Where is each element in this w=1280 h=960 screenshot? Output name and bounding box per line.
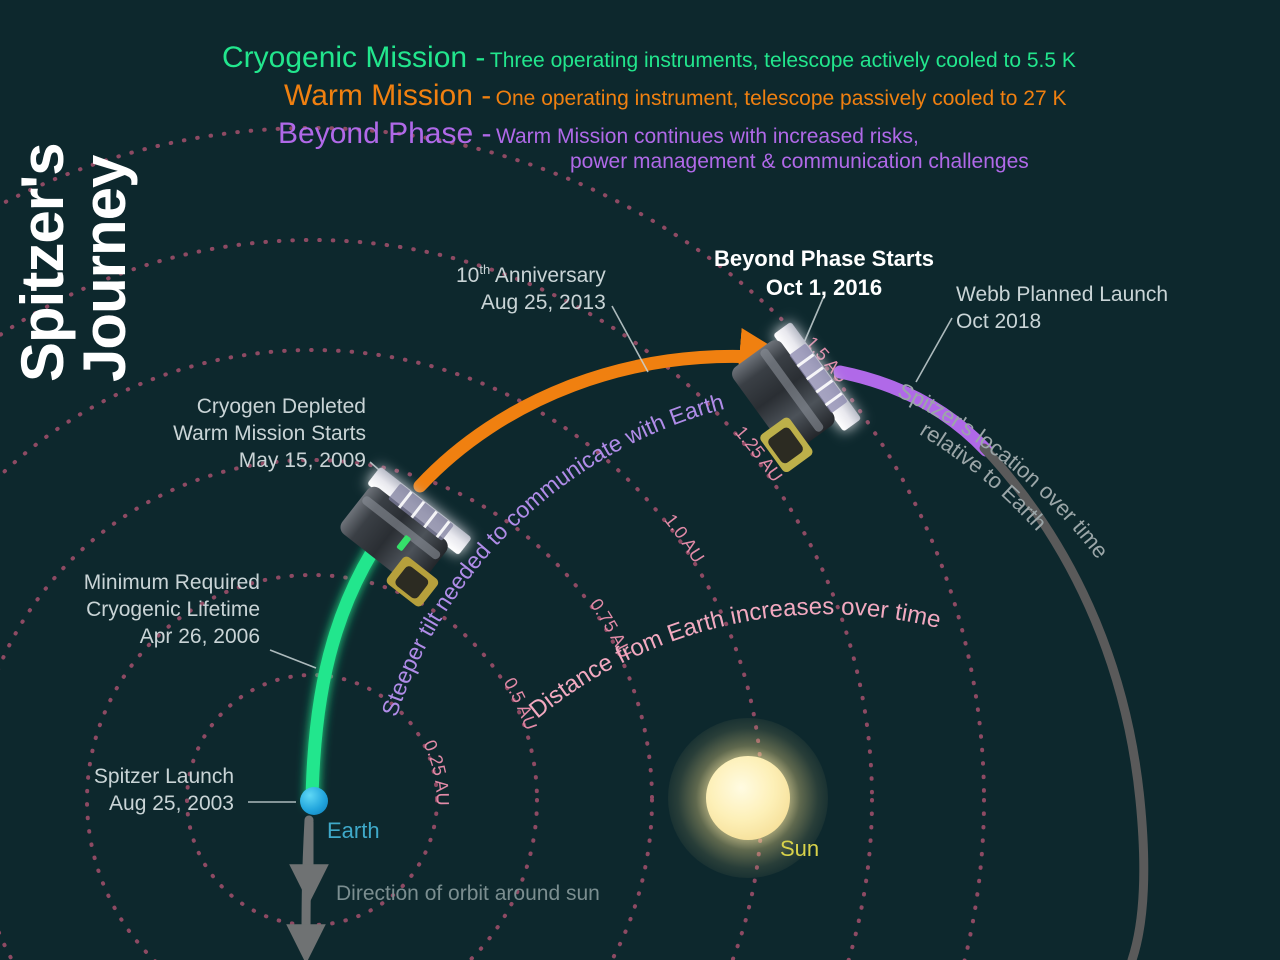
legend-head-cryogenic: Cryogenic Mission -	[222, 41, 485, 74]
anniversary-ordinal: th	[479, 262, 490, 277]
legend-desc-beyond: Warm Mission continues with increased ri…	[496, 125, 919, 148]
orbit-direction-label: Direction of orbit around sun	[336, 882, 600, 906]
callout-spitzer-launch: Spitzer Launch Aug 25, 2003	[44, 763, 234, 817]
callout-launch-line1: Spitzer Launch	[44, 763, 234, 790]
callout-anniversary-line2: Aug 25, 2013	[456, 289, 606, 316]
legend-row-beyond: Beyond Phase - Warm Mission continues wi…	[196, 116, 1256, 176]
callout-cryogen-line3: May 15, 2009	[104, 447, 366, 474]
curved-label-distance: Distance from Earth increases over time	[524, 593, 943, 724]
trajectory-cryogenic	[312, 522, 392, 800]
legend-head-warm: Warm Mission -	[284, 79, 491, 112]
anniversary-word: Anniversary	[490, 264, 606, 287]
callout-10th-anniversary: 10th Anniversary Aug 25, 2013	[456, 262, 606, 316]
leader-webb	[916, 318, 952, 382]
legend-desc-warm: One operating instrument, telescope pass…	[496, 87, 1067, 110]
callout-webb-line2: Oct 2018	[956, 308, 1168, 335]
callout-beyond-phase-start: Beyond Phase Starts Oct 1, 2016	[712, 244, 936, 302]
au-label-1-0: 1.0 AU	[661, 510, 709, 566]
callout-minreq-line2: Cryogenic Lifetime	[40, 596, 260, 623]
sun-body	[706, 756, 790, 840]
callout-min-cryogenic-lifetime: Minimum Required Cryogenic Lifetime Apr …	[40, 569, 260, 650]
callout-minreq-line3: Apr 26, 2006	[40, 623, 260, 650]
callout-anniversary-line1: 10th Anniversary	[456, 262, 606, 289]
earth-label: Earth	[327, 818, 380, 844]
spacecraft-spitzer-2016	[715, 322, 862, 474]
legend-row-warm: Warm Mission - One operating instrument,…	[196, 78, 1256, 114]
callout-minreq-line1: Minimum Required	[40, 569, 260, 596]
infographic-canvas: 0.25 AU 0.5 AU 0.75 AU 1.0 AU 1.25 AU 1.…	[0, 0, 1280, 960]
legend-desc-cryogenic: Three operating instruments, telescope a…	[490, 49, 1076, 72]
earth-body	[300, 787, 328, 815]
callout-beyond-line2: Oct 1, 2016	[712, 273, 936, 302]
leader-minreq	[270, 650, 316, 668]
sun-label: Sun	[780, 836, 819, 862]
callout-webb-launch: Webb Planned Launch Oct 2018	[956, 281, 1168, 335]
anniversary-number: 10	[456, 264, 479, 287]
callout-webb-line1: Webb Planned Launch	[956, 281, 1168, 308]
legend-row-cryogenic: Cryogenic Mission - Three operating inst…	[196, 40, 1256, 76]
callout-beyond-line1: Beyond Phase Starts	[712, 244, 936, 273]
au-label-0-25: 0.25 AU	[419, 737, 452, 806]
legend-head-beyond: Beyond Phase -	[278, 117, 491, 150]
callout-cryogen-line2: Warm Mission Starts	[104, 420, 366, 447]
legend-desc2-beyond: power management & communication challen…	[278, 148, 1256, 176]
callout-cryogen-line1: Cryogen Depleted	[104, 393, 366, 420]
mission-phase-legend: Cryogenic Mission - Three operating inst…	[196, 40, 1256, 178]
callout-cryogen-depleted: Cryogen Depleted Warm Mission Starts May…	[104, 393, 366, 474]
callout-launch-line2: Aug 25, 2003	[44, 790, 234, 817]
